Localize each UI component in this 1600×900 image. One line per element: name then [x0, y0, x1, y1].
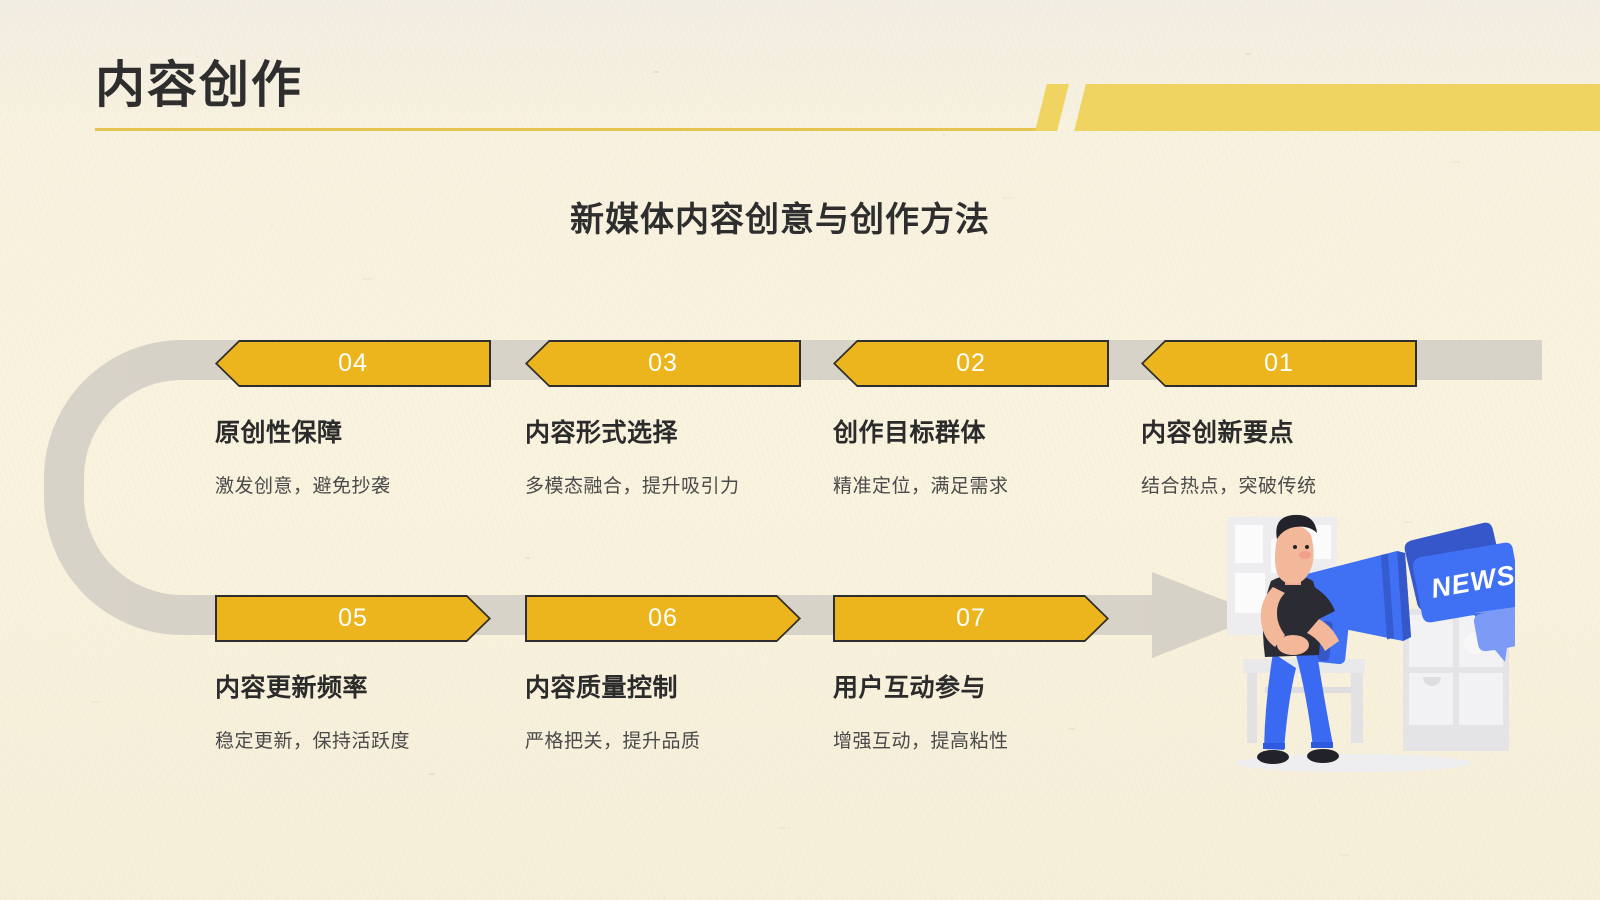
process-step-05[interactable]: 05 内容更新频率 稳定更新，保持活跃度 — [215, 595, 533, 753]
step-chevron-05[interactable]: 05 — [215, 595, 491, 642]
step-desc-03: 多模态融合，提升吸引力 — [525, 471, 843, 498]
step-chevron-02[interactable]: 02 — [833, 340, 1109, 387]
illus-shelf-cell — [1409, 615, 1453, 667]
step-title-07: 用户互动参与 — [833, 668, 1151, 704]
step-number-01: 01 — [1264, 349, 1294, 378]
slide-subtitle-text: 新媒体内容创意与创作方法 — [570, 201, 990, 239]
step-desc-06: 严格把关，提升品质 — [525, 726, 843, 753]
illus-cuff — [1311, 742, 1333, 748]
step-chevron-04[interactable]: 04 — [215, 340, 491, 387]
step-number-03: 03 — [648, 349, 678, 378]
step-chevron-03[interactable]: 03 — [525, 340, 801, 387]
illus-window-pane — [1235, 573, 1265, 613]
process-step-02[interactable]: 02 创作目标群体 精准定位，满足需求 — [833, 340, 1151, 498]
illus-window-pane — [1235, 525, 1263, 563]
step-desc-01: 结合热点，突破传统 — [1141, 471, 1459, 498]
illus-cuff — [1263, 743, 1285, 749]
step-title-04: 原创性保障 — [215, 413, 533, 449]
process-step-01[interactable]: 01 内容创新要点 结合热点，突破传统 — [1141, 340, 1459, 498]
illus-cheek-blush — [1299, 551, 1311, 559]
step-desc-04: 激发创意，避免抄袭 — [215, 471, 533, 498]
step-chevron-01[interactable]: 01 — [1141, 340, 1417, 387]
step-number-02: 02 — [956, 349, 986, 378]
step-title-01: 内容创新要点 — [1141, 413, 1459, 449]
step-chevron-06[interactable]: 06 — [525, 595, 801, 642]
step-title-03: 内容形式选择 — [525, 413, 843, 449]
decorative-bar-thin — [1035, 84, 1069, 131]
decorative-bar-wide — [1074, 84, 1600, 131]
slide-canvas: 内容创作 新媒体内容创意与创作方法 04 原创性保障 激 — [0, 0, 1600, 900]
step-chevron-07[interactable]: 07 — [833, 595, 1109, 642]
slide-subtitle: 新媒体内容创意与创作方法 — [0, 192, 1600, 241]
illus-shoe — [1307, 749, 1339, 763]
step-title-02: 创作目标群体 — [833, 413, 1151, 449]
illus-hand — [1277, 635, 1309, 655]
step-desc-05: 稳定更新，保持活跃度 — [215, 726, 533, 753]
page-title: 内容创作 — [95, 60, 303, 110]
process-step-07[interactable]: 07 用户互动参与 增强互动，提高粘性 — [833, 595, 1151, 753]
step-number-04: 04 — [338, 349, 368, 378]
illus-desk-leg — [1351, 673, 1363, 743]
illus-eye — [1305, 545, 1309, 549]
step-title-05: 内容更新频率 — [215, 668, 533, 704]
process-step-03[interactable]: 03 内容形式选择 多模态融合，提升吸引力 — [525, 340, 843, 498]
step-title-06: 内容质量控制 — [525, 668, 843, 704]
step-number-06: 06 — [648, 604, 678, 633]
illus-shelf-cell — [1459, 673, 1503, 725]
step-desc-02: 精准定位，满足需求 — [833, 471, 1151, 498]
process-step-04[interactable]: 04 原创性保障 激发创意，避免抄袭 — [215, 340, 533, 498]
title-underline-rule — [95, 128, 1040, 131]
step-number-05: 05 — [338, 604, 368, 633]
step-desc-07: 增强互动，提高粘性 — [833, 726, 1151, 753]
illus-desk-leg — [1247, 673, 1257, 743]
man-with-megaphone-news-illustration: NEWS — [1185, 495, 1515, 780]
step-number-07: 07 — [956, 604, 986, 633]
process-step-06[interactable]: 06 内容质量控制 严格把关，提升品质 — [525, 595, 843, 753]
illus-shoe — [1257, 750, 1289, 764]
illus-eye — [1293, 545, 1297, 549]
